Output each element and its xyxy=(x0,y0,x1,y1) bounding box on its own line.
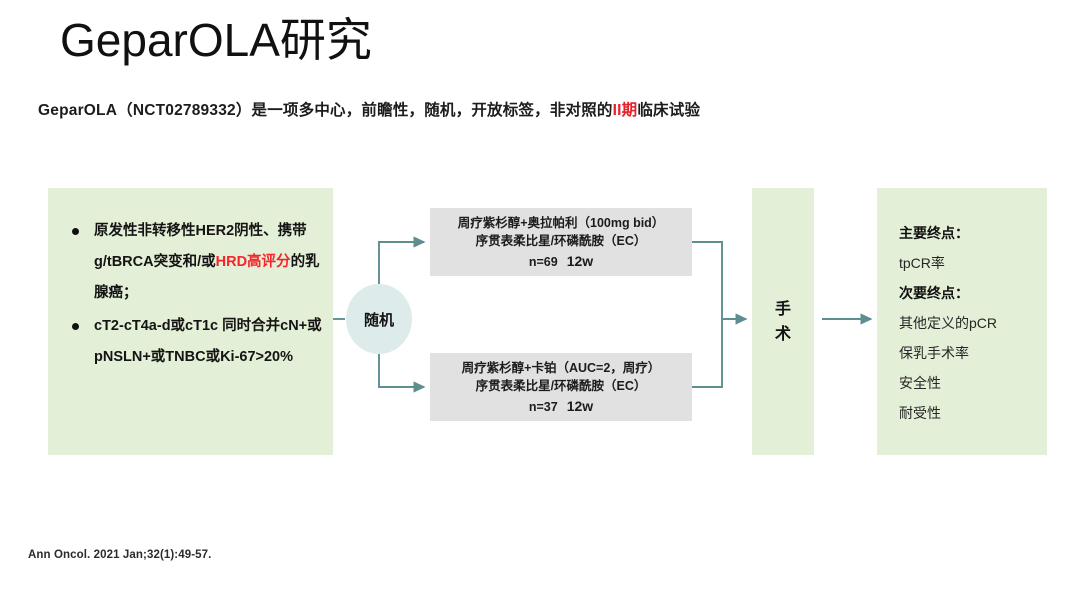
treatment-arm-a-box: 周疗紫杉醇+奥拉帕利（100mg bid） 序贯表柔比星/环磷酰胺（EC） n=… xyxy=(430,208,692,276)
primary-endpoint-heading: 主要终点： xyxy=(899,218,1039,248)
arm-a-regimen-line2: 序贯表柔比星/环磷酰胺（EC） xyxy=(476,232,647,250)
bullet-1-seg-2-highlight: HRD高评分 xyxy=(216,254,291,270)
secondary-endpoint-item: 其他定义的pCR xyxy=(899,308,1039,338)
randomization-node: 随机 xyxy=(346,284,412,354)
arm-a-regimen-line1: 周疗紫杉醇+奥拉帕利（100mg bid） xyxy=(458,214,665,232)
surgery-box: 手 术 xyxy=(752,188,814,455)
surgery-char-1: 手 xyxy=(752,297,814,322)
treatment-arm-b-content: 周疗紫杉醇+卡铂（AUC=2，周疗） 序贯表柔比星/环磷酰胺（EC） n=371… xyxy=(430,353,692,421)
arm-a-n-value: n=69 xyxy=(529,255,558,269)
arm-b-enrollment: n=3712w xyxy=(529,397,593,416)
endpoints-list: 主要终点： tpCR率 次要终点： 其他定义的pCR 保乳手术率 安全性 耐受性 xyxy=(899,218,1039,428)
treatment-arm-b-box: 周疗紫杉醇+卡铂（AUC=2，周疗） 序贯表柔比星/环磷酰胺（EC） n=371… xyxy=(430,353,692,421)
endpoints-box: 主要终点： tpCR率 次要终点： 其他定义的pCR 保乳手术率 安全性 耐受性 xyxy=(877,188,1047,455)
arm-b-duration: 12w xyxy=(567,398,593,414)
eligibility-bullet-list: 原发性非转移性HER2阴性、携带g/tBRCA突变和/或HRD高评分的乳腺癌； … xyxy=(68,216,323,375)
eligibility-criteria-box: 原发性非转移性HER2阴性、携带g/tBRCA突变和/或HRD高评分的乳腺癌； … xyxy=(48,188,333,455)
arm-a-enrollment: n=6912w xyxy=(529,252,593,271)
arm-b-regimen-line2: 序贯表柔比星/环磷酰胺（EC） xyxy=(476,377,647,395)
arm-b-regimen-line1: 周疗紫杉醇+卡铂（AUC=2，周疗） xyxy=(462,359,661,377)
secondary-endpoint-item: 耐受性 xyxy=(899,398,1039,428)
secondary-endpoint-heading: 次要终点： xyxy=(899,278,1039,308)
bullet-2-seg-1: cT2-cT4a-d或cT1c 同时合并cN+或pNSLN+或TNBC或Ki-6… xyxy=(94,318,322,365)
citation-footer: Ann Oncol. 2021 Jan;32(1):49-57. xyxy=(28,549,211,561)
surgery-char-2: 术 xyxy=(752,322,814,347)
slide-canvas: GeparOLA研究 GeparOLA（NCT02789332）是一项多中心，前… xyxy=(0,0,1080,601)
primary-endpoint-item: tpCR率 xyxy=(899,248,1039,278)
randomization-label: 随机 xyxy=(364,309,394,330)
secondary-endpoint-item: 保乳手术率 xyxy=(899,338,1039,368)
arm-a-duration: 12w xyxy=(567,253,593,269)
list-item: 原发性非转移性HER2阴性、携带g/tBRCA突变和/或HRD高评分的乳腺癌； xyxy=(68,216,323,309)
arm-b-n-value: n=37 xyxy=(529,400,558,414)
secondary-endpoint-item: 安全性 xyxy=(899,368,1039,398)
list-item: cT2-cT4a-d或cT1c 同时合并cN+或pNSLN+或TNBC或Ki-6… xyxy=(68,311,323,373)
surgery-label: 手 术 xyxy=(752,297,814,347)
treatment-arm-a-content: 周疗紫杉醇+奥拉帕利（100mg bid） 序贯表柔比星/环磷酰胺（EC） n=… xyxy=(430,208,692,276)
